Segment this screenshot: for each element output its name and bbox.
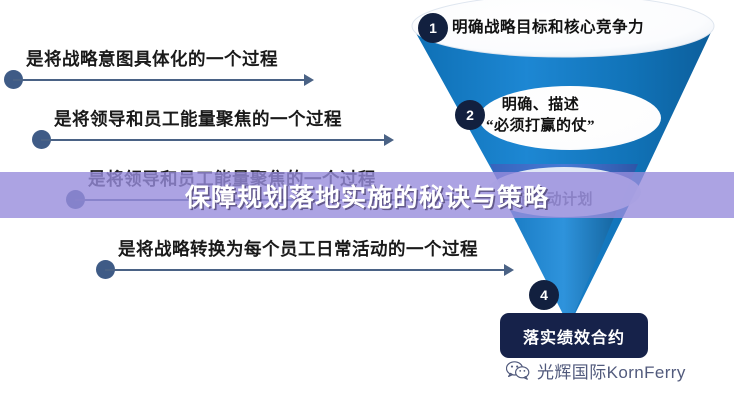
outcome-box: 落实绩效合约 — [500, 313, 648, 358]
slide-canvas: 明确战略目标和核心竞争力 明确、描述 “必须打赢的仗” 制定行动计划 1 2 4… — [0, 0, 734, 400]
funnel-body-lower — [510, 210, 617, 326]
arrow-head-icon — [504, 264, 514, 276]
funnel-svg — [398, 0, 728, 326]
funnel-badge-2: 2 — [455, 100, 485, 130]
arrow-line — [13, 79, 311, 81]
funnel-badge-1: 1 — [418, 13, 448, 43]
arrow-head-icon — [304, 74, 314, 86]
funnel-stage-2-label: 明确、描述 “必须打赢的仗” — [486, 95, 595, 137]
funnel-stage-1-label: 明确战略目标和核心竞争力 — [452, 17, 644, 39]
watermark: 光辉国际KornFerry — [506, 358, 686, 383]
watermark-text: 光辉国际KornFerry — [537, 358, 686, 383]
statement-text-1: 是将战略意图具体化的一个过程 — [26, 44, 278, 74]
arrow-head-icon — [384, 134, 394, 146]
page-title: 保障规划落地实施的秘诀与策略 — [0, 178, 734, 214]
funnel-stage-2-line1: 明确、描述 — [486, 95, 595, 116]
statement-text-2: 是将领导和员工能量聚焦的一个过程 — [54, 104, 342, 134]
arrow-line — [105, 269, 511, 271]
arrow-line — [41, 139, 391, 141]
statement-text-4: 是将战略转换为每个员工日常活动的一个过程 — [118, 234, 478, 264]
funnel-stage-2-line2: “必须打赢的仗” — [486, 116, 595, 137]
outcome-label: 落实绩效合约 — [500, 324, 648, 348]
funnel-diagram — [398, 0, 728, 326]
funnel-badge-4: 4 — [529, 280, 559, 310]
wechat-icon — [506, 361, 530, 380]
